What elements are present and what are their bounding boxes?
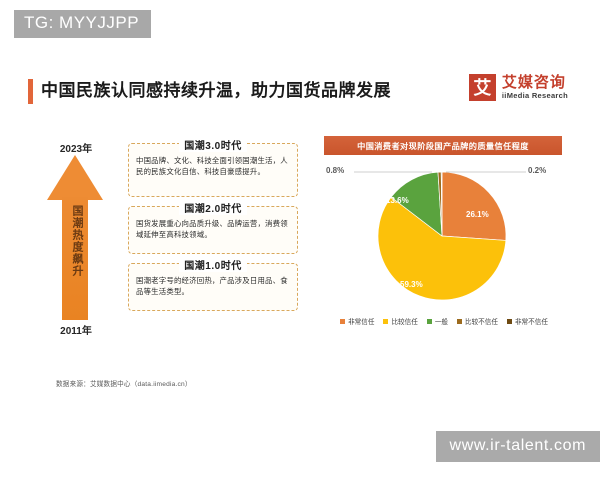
- chart-panel: 中国消费者对现阶段国产品牌的质量信任程度 26.1%59.3%13.6%0.8%…: [314, 136, 574, 348]
- timeline-arrow-group: 2023年 国潮热度飙升 2011年: [26, 140, 126, 340]
- legend-swatch-icon: [340, 319, 345, 324]
- arrow-head: [47, 155, 103, 200]
- overlay-tag: TG: MYYJJPP: [14, 10, 151, 38]
- legend-item[interactable]: 比较信任: [383, 316, 417, 326]
- source-note: 数据来源：艾媒数据中心（data.iimedia.cn）: [56, 378, 192, 388]
- era-card: 国潮3.0时代 中国品牌、文化、科技全面引领国潮生活，人民的民族文化自信、科技自…: [128, 143, 298, 197]
- era-card-title-wrap: 国潮3.0时代: [129, 137, 297, 152]
- brand-logo: 艾 艾媒咨询 iiMedia Research: [469, 74, 568, 101]
- timeline-year-top: 2023年: [26, 140, 126, 155]
- pie-slice-label: 0.2%: [528, 166, 546, 175]
- logo-text: 艾媒咨询 iiMedia Research: [502, 75, 568, 101]
- legend-label: 比较信任: [391, 316, 417, 326]
- legend-item[interactable]: 非常信任: [340, 316, 374, 326]
- era-card-body: 国潮老字号的经济回热，产品涉及日用品、食品等生活类型。: [136, 275, 290, 298]
- legend-item[interactable]: 一般: [427, 316, 448, 326]
- pie-chart: 26.1%59.3%13.6%0.8%0.2%: [314, 158, 574, 313]
- era-card-title: 国潮1.0时代: [179, 261, 246, 272]
- arrow-label: 国潮热度飙升: [67, 205, 83, 277]
- pie-chart-svg: [314, 158, 574, 313]
- legend-swatch-icon: [507, 319, 512, 324]
- pie-slice-label: 59.3%: [400, 280, 423, 289]
- legend-swatch-icon: [457, 319, 462, 324]
- era-card-body: 中国品牌、文化、科技全面引领国潮生活，人民的民族文化自信、科技自豪感提升。: [136, 155, 290, 178]
- legend-item[interactable]: 非常不信任: [507, 316, 548, 326]
- era-card: 国潮2.0时代 国货发展重心向品质升级、品牌运营，消费领域延伸至高科技领域。: [128, 206, 298, 254]
- logo-name-cn: 艾媒咨询: [502, 75, 568, 92]
- legend-label: 非常不信任: [515, 316, 548, 326]
- pie-slice-label: 26.1%: [466, 210, 489, 219]
- chart-legend: 非常信任比较信任一般比较不信任非常不信任: [314, 316, 574, 326]
- pie-slice: [442, 172, 506, 240]
- pie-slice-label: 0.8%: [326, 166, 344, 175]
- era-card-title: 国潮2.0时代: [179, 204, 246, 215]
- timeline-year-bottom: 2011年: [26, 322, 126, 337]
- legend-label: 比较不信任: [465, 316, 498, 326]
- legend-label: 非常信任: [348, 316, 374, 326]
- slide-header: 中国民族认同感持续升温，助力国货品牌发展 艾 艾媒咨询 iiMedia Rese…: [28, 76, 576, 116]
- legend-swatch-icon: [383, 319, 388, 324]
- era-card: 国潮1.0时代 国潮老字号的经济回热，产品涉及日用品、食品等生活类型。: [128, 263, 298, 311]
- legend-swatch-icon: [427, 319, 432, 324]
- logo-mark-icon: 艾: [469, 74, 496, 101]
- era-card-title-wrap: 国潮2.0时代: [129, 200, 297, 215]
- era-card-title: 国潮3.0时代: [179, 141, 246, 152]
- era-card-title-wrap: 国潮1.0时代: [129, 257, 297, 272]
- slide-card: 中国民族认同感持续升温，助力国货品牌发展 艾 艾媒咨询 iiMedia Rese…: [18, 58, 582, 413]
- pie-slice-label: 13.6%: [386, 196, 409, 205]
- era-card-body: 国货发展重心向品质升级、品牌运营，消费领域延伸至高科技领域。: [136, 218, 290, 241]
- logo-name-en: iiMedia Research: [502, 92, 568, 100]
- watermark: www.ir-talent.com: [436, 431, 600, 462]
- chart-title: 中国消费者对现阶段国产品牌的质量信任程度: [324, 136, 562, 155]
- title-accent-bar: [28, 79, 33, 104]
- legend-item[interactable]: 比较不信任: [457, 316, 498, 326]
- legend-label: 一般: [435, 316, 448, 326]
- page-title: 中国民族认同感持续升温，助力国货品牌发展: [41, 76, 391, 101]
- upward-arrow-icon: 国潮热度飙升: [26, 155, 126, 320]
